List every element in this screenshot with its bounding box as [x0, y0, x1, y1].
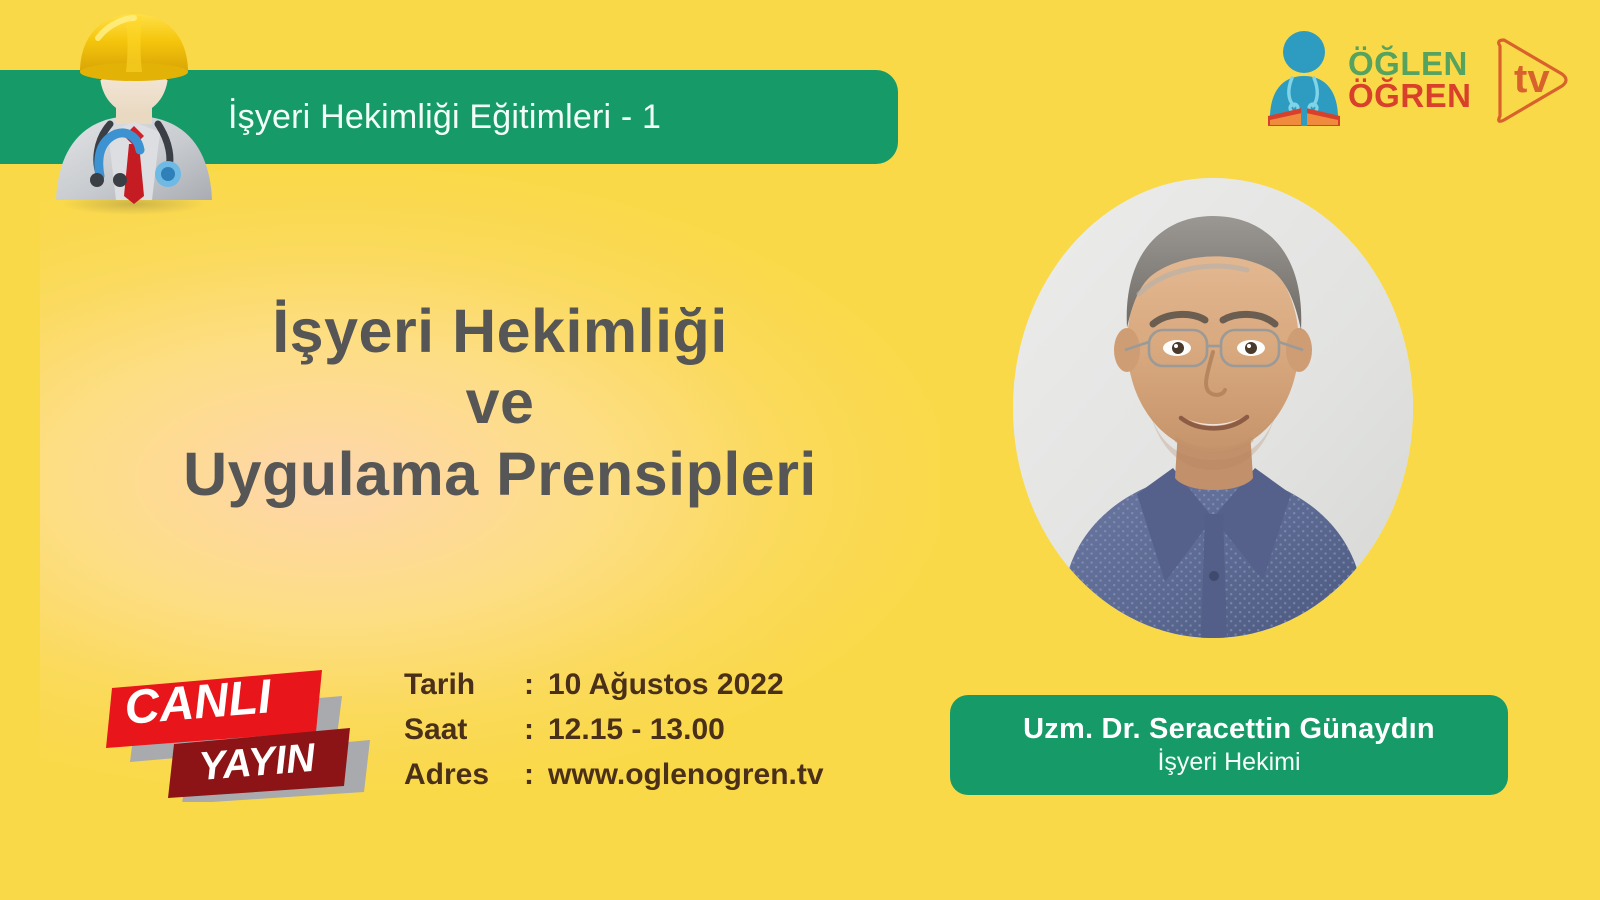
brand-wordmark: ÖĞLEN ÖĞREN [1348, 48, 1472, 113]
title-line-3: Uygulama Prensipleri [60, 439, 940, 510]
brand-tv-label: tv [1514, 57, 1550, 101]
detail-label-address: Adres [404, 752, 524, 797]
detail-label-time: Saat [404, 707, 524, 752]
detail-row-time: Saat : 12.15 - 13.00 [404, 707, 824, 752]
detail-separator-address: : [524, 752, 548, 797]
detail-value-address[interactable]: www.oglenogren.tv [548, 752, 824, 797]
brand-line-ogren: ÖĞREN [1348, 80, 1472, 112]
speaker-photo [1013, 178, 1413, 638]
event-poster: İşyeri Hekimliği Eğitimleri - 1 [0, 0, 1600, 900]
speaker-role: İşyeri Hekimi [1157, 748, 1300, 777]
speaker-nameplate: Uzm. Dr. Seracettin Günaydın İşyeri Heki… [950, 695, 1508, 795]
event-details: Tarih : 10 Ağustos 2022 Saat : 12.15 - 1… [404, 662, 824, 797]
detail-label-date: Tarih [404, 662, 524, 707]
detail-row-address[interactable]: Adres : www.oglenogren.tv [404, 752, 824, 797]
page-title: İşyeri Hekimliği ve Uygulama Prensipleri [60, 296, 940, 510]
ribbon-title: İşyeri Hekimliği Eğitimleri - 1 [228, 98, 661, 137]
play-triangle-icon: tv [1480, 34, 1576, 126]
detail-row-date: Tarih : 10 Ağustos 2022 [404, 662, 824, 707]
detail-value-date: 10 Ağustos 2022 [548, 662, 784, 707]
detail-separator-date: : [524, 662, 548, 707]
brand-line-oglen: ÖĞLEN [1348, 48, 1472, 80]
brand-logo[interactable]: ÖĞLEN ÖĞREN tv [1266, 20, 1582, 140]
live-badge-bottom-label: YAYIN [197, 736, 318, 789]
speaker-name: Uzm. Dr. Seracettin Günaydın [1023, 713, 1435, 746]
title-line-1: İşyeri Hekimliği [60, 296, 940, 367]
doctor-hardhat-icon [36, 4, 232, 216]
detail-value-time: 12.15 - 13.00 [548, 707, 725, 752]
doctor-reading-book-icon [1266, 28, 1342, 132]
live-broadcast-badge: CANLI YAYIN [92, 652, 374, 802]
title-line-2: ve [60, 367, 940, 438]
detail-separator-time: : [524, 707, 548, 752]
